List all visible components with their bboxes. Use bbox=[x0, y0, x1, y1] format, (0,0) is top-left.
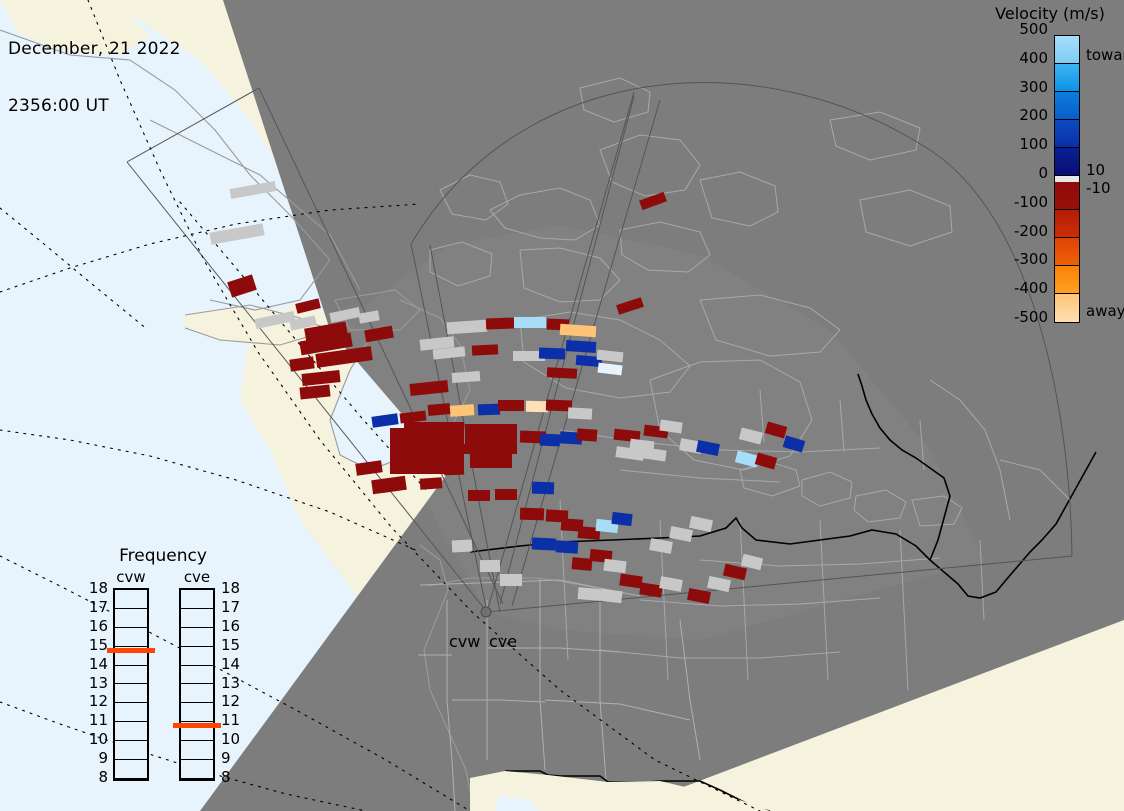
velocity-cell bbox=[450, 404, 475, 417]
frequency-segment bbox=[115, 722, 147, 741]
velocity-cell bbox=[532, 482, 554, 495]
frequency-bar-cvw bbox=[113, 588, 149, 781]
velocity-cell bbox=[547, 367, 577, 379]
frequency-tick-17: 17 bbox=[82, 601, 108, 614]
frequency-tick-11: 11 bbox=[221, 714, 247, 727]
frequency-tick-12: 12 bbox=[221, 695, 247, 708]
colorbar-title: Velocity (m/s) bbox=[974, 4, 1124, 23]
velocity-cell bbox=[495, 489, 517, 500]
velocity-cell bbox=[486, 318, 514, 330]
colorbar-swatch-toward-100-10 bbox=[1055, 148, 1079, 176]
frequency-segment bbox=[115, 741, 147, 760]
colorbar-tick--300: -300 bbox=[968, 252, 1048, 266]
frequency-tick-12: 12 bbox=[82, 695, 108, 708]
colorbar-tick-500: 500 bbox=[968, 22, 1048, 36]
velocity-cell bbox=[520, 508, 544, 521]
velocity-cell bbox=[540, 433, 561, 446]
site-label-cvw: cvw bbox=[449, 632, 480, 651]
frequency-segment bbox=[115, 590, 147, 609]
frequency-segment bbox=[115, 703, 147, 722]
velocity-cell bbox=[514, 317, 546, 328]
colorbar-swatch-away-100-200 bbox=[1055, 210, 1079, 238]
velocity-cell bbox=[420, 477, 443, 490]
velocity-cell bbox=[404, 422, 464, 442]
frequency-segment bbox=[181, 666, 213, 685]
colorbar-gradient-box bbox=[1054, 35, 1080, 323]
velocity-cell bbox=[456, 444, 474, 454]
velocity-cell bbox=[572, 557, 593, 571]
radar-map-canvas: December, 21 2022 2356:00 UT cvw cve Vel… bbox=[0, 0, 1124, 811]
velocity-cell bbox=[468, 490, 490, 501]
frequency-segment bbox=[181, 760, 213, 779]
datetime-label: December, 21 2022 2356:00 UT bbox=[8, 2, 181, 154]
frequency-segment bbox=[181, 590, 213, 609]
frequency-marker-cvw bbox=[107, 648, 155, 653]
velocity-cell bbox=[539, 348, 565, 360]
colorbar-tick--400: -400 bbox=[968, 281, 1048, 295]
velocity-cell bbox=[478, 404, 500, 416]
velocity-cell bbox=[500, 574, 522, 586]
frequency-tick-15: 15 bbox=[82, 639, 108, 652]
frequency-tick-10: 10 bbox=[221, 733, 247, 746]
frequency-segment bbox=[115, 628, 147, 647]
frequency-segment bbox=[181, 647, 213, 666]
frequency-segment bbox=[181, 703, 213, 722]
colorbar-tick-100: 100 bbox=[968, 137, 1048, 151]
colorbar-upper-threshold-label: 10 bbox=[1086, 161, 1105, 179]
velocity-cell bbox=[452, 539, 473, 552]
velocity-cell bbox=[472, 344, 498, 355]
velocity-cell bbox=[498, 400, 524, 411]
frequency-marker-cve bbox=[173, 723, 221, 728]
colorbar-tick-400: 400 bbox=[968, 51, 1048, 65]
velocity-cell bbox=[578, 587, 601, 601]
frequency-segment bbox=[181, 628, 213, 647]
colorbar-swatch-toward-300-200 bbox=[1055, 92, 1079, 120]
frequency-tick-9: 9 bbox=[82, 752, 108, 765]
radar-site-marker bbox=[481, 607, 491, 617]
frequency-tick-18: 18 bbox=[82, 582, 108, 595]
colorbar-swatch-toward-500-400 bbox=[1055, 36, 1079, 64]
colorbar-tick--100: -100 bbox=[968, 195, 1048, 209]
colorbar-tick--500: -500 bbox=[968, 310, 1048, 324]
colorbar-swatch-toward-400-300 bbox=[1055, 64, 1079, 92]
colorbar-tick-200: 200 bbox=[968, 108, 1048, 122]
frequency-tick-9: 9 bbox=[221, 752, 247, 765]
time-text: 2356:00 UT bbox=[8, 97, 181, 116]
frequency-tick-14: 14 bbox=[221, 658, 247, 671]
colorbar-tick-300: 300 bbox=[968, 80, 1048, 94]
frequency-tick-16: 16 bbox=[221, 620, 247, 633]
colorbar-tick-labels: 5004003002001000-100-200-300-400-500 bbox=[968, 28, 1048, 328]
frequency-segment bbox=[181, 609, 213, 628]
velocity-cell bbox=[568, 407, 593, 419]
frequency-tick-8: 8 bbox=[221, 771, 247, 784]
colorbar-swatch-toward-200-100 bbox=[1055, 120, 1079, 148]
frequency-tick-13: 13 bbox=[221, 677, 247, 690]
colorbar-away-label: away bbox=[1086, 302, 1124, 320]
velocity-cell bbox=[470, 452, 512, 468]
velocity-cell bbox=[611, 512, 632, 526]
velocity-colorbar: Velocity (m/s) 5004003002001000-100-200-… bbox=[968, 0, 1124, 340]
frequency-tick-14: 14 bbox=[82, 658, 108, 671]
colorbar-swatch-away-400-500 bbox=[1055, 294, 1079, 322]
frequency-tick-10: 10 bbox=[82, 733, 108, 746]
frequency-title: Frequency bbox=[88, 546, 238, 566]
velocity-cell bbox=[526, 401, 548, 412]
frequency-tick-11: 11 bbox=[82, 714, 108, 727]
colorbar-tick-0: 0 bbox=[968, 166, 1048, 180]
frequency-segment bbox=[115, 609, 147, 628]
velocity-cell bbox=[444, 464, 464, 476]
date-text: December, 21 2022 bbox=[8, 40, 181, 59]
frequency-bar-cve bbox=[179, 588, 215, 781]
colorbar-swatch-away-200-300 bbox=[1055, 238, 1079, 266]
frequency-segment bbox=[115, 666, 147, 685]
frequency-segment bbox=[115, 760, 147, 779]
frequency-column-label-cve: cve bbox=[176, 568, 218, 586]
frequency-tick-15: 15 bbox=[221, 639, 247, 652]
colorbar-tick--200: -200 bbox=[968, 224, 1048, 238]
velocity-cell bbox=[577, 428, 598, 441]
colorbar-toward-label: toward bbox=[1086, 46, 1124, 64]
frequency-segment bbox=[115, 684, 147, 703]
frequency-tick-18: 18 bbox=[221, 582, 247, 595]
frequency-segment bbox=[181, 684, 213, 703]
frequency-tick-8: 8 bbox=[82, 771, 108, 784]
velocity-cell bbox=[428, 403, 451, 416]
velocity-cell bbox=[532, 537, 557, 550]
frequency-tick-16: 16 bbox=[82, 620, 108, 633]
velocity-cell bbox=[480, 560, 500, 572]
colorbar-swatch-away-300-400 bbox=[1055, 266, 1079, 294]
velocity-cell bbox=[452, 371, 481, 383]
frequency-tick-13: 13 bbox=[82, 677, 108, 690]
frequency-column-label-cvw: cvw bbox=[110, 568, 152, 586]
site-label-cve: cve bbox=[489, 632, 517, 651]
frequency-legend: Frequency cvw cve 18171615141312111098 1… bbox=[88, 546, 238, 786]
velocity-cell bbox=[556, 540, 579, 554]
frequency-tick-17: 17 bbox=[221, 601, 247, 614]
colorbar-lower-threshold-label: -10 bbox=[1086, 179, 1111, 197]
colorbar-swatch-away-10-100 bbox=[1055, 182, 1079, 210]
frequency-segment bbox=[181, 741, 213, 760]
velocity-cell bbox=[566, 340, 597, 353]
